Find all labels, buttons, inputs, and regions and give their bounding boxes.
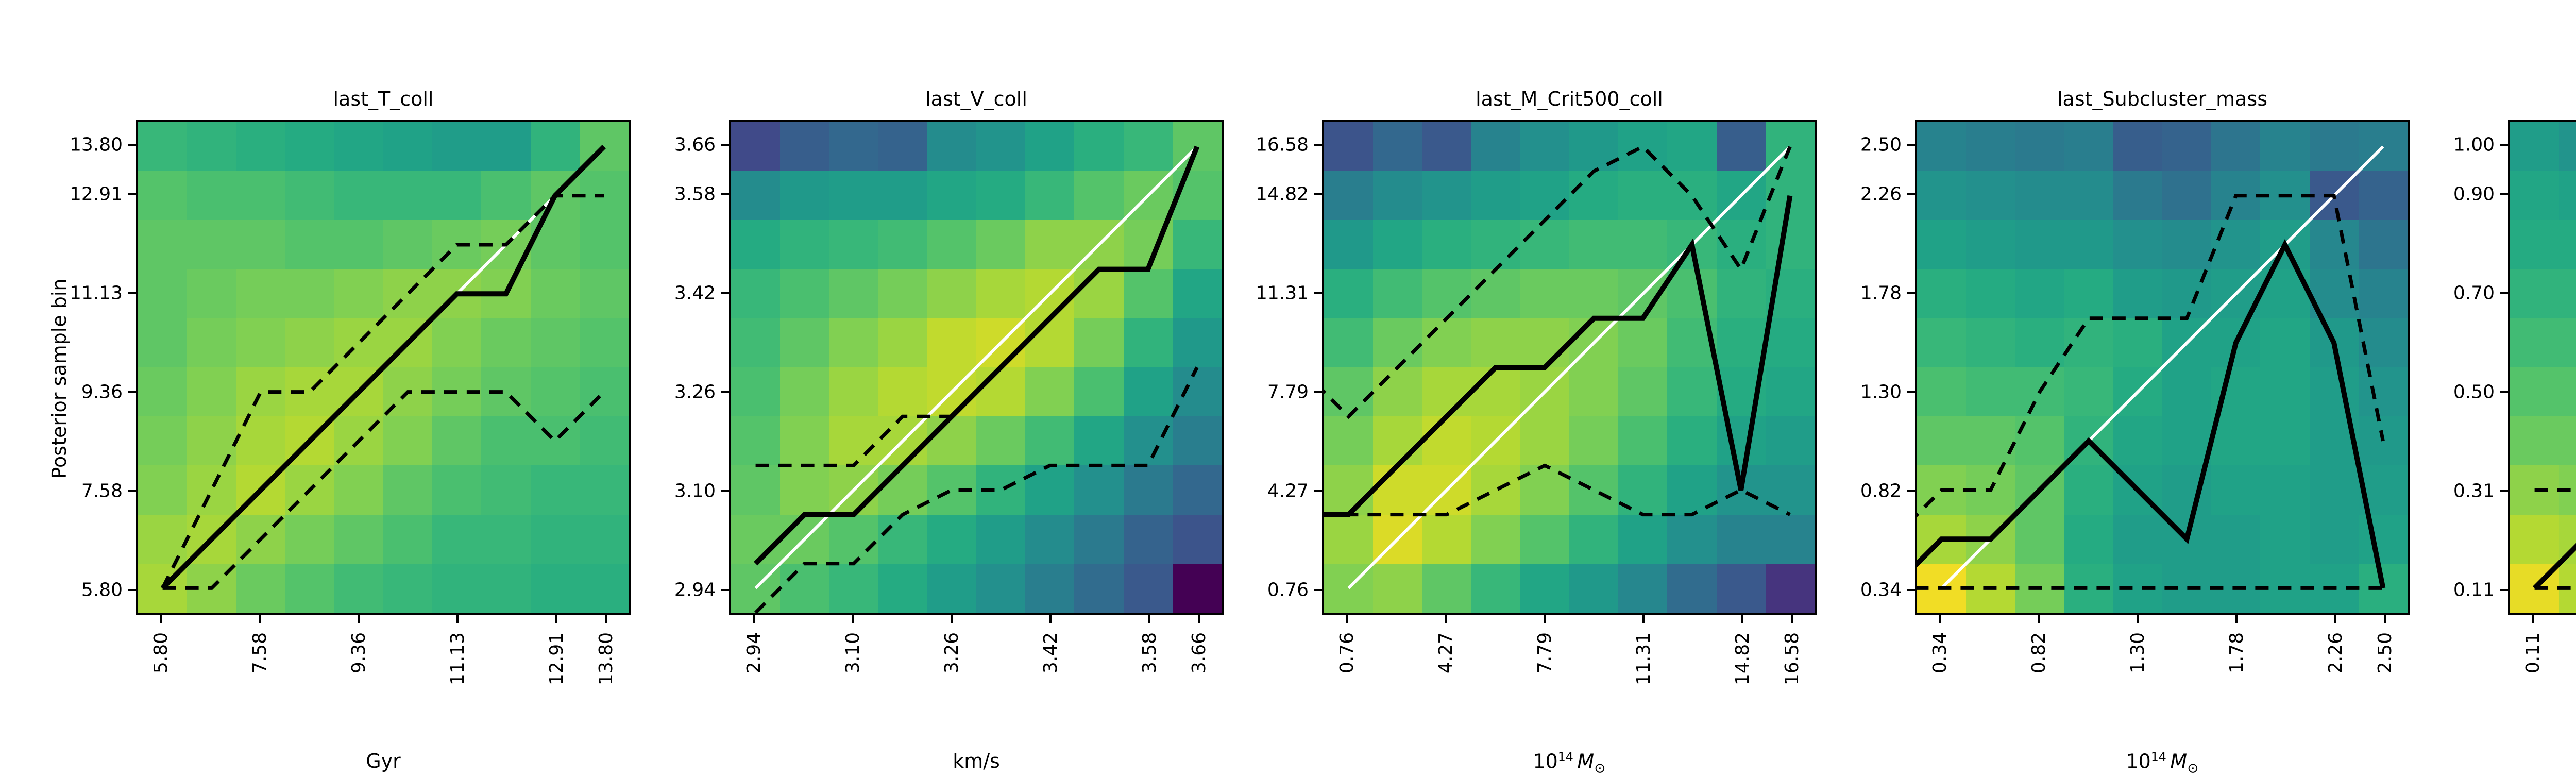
x-tick-label-text: 16.58 [1782, 632, 1803, 685]
x-tick-label-text: 1.78 [2226, 632, 2247, 673]
y-tick-mark [1907, 391, 1915, 393]
y-tick-mark [1907, 490, 1915, 492]
y-tick-label: 1.30 [1860, 382, 1902, 403]
y-tick-mark [1907, 144, 1915, 146]
y-tick-label: 0.82 [1860, 481, 1902, 502]
panel-title-last_M_Crit500_coll: last_M_Crit500_coll [1322, 89, 1817, 120]
panel-last_Mass_ratio: last_Mass_ratio0.110.310.500.700.901.000… [2508, 120, 2576, 615]
x-tick-mark [259, 615, 261, 623]
x-tick-label-text: 5.80 [150, 632, 172, 673]
y-axis-label: Posterior sample bin [48, 214, 71, 544]
identity-line [1349, 147, 1790, 588]
y-tick-mark [128, 292, 136, 294]
y-tick-label: 0.11 [2453, 580, 2495, 601]
y-tick-mark [2500, 589, 2508, 591]
x-tick-label-text: 3.10 [842, 632, 863, 673]
y-tick-mark [2500, 490, 2508, 492]
x-tick-mark [160, 615, 162, 623]
x-tick-label-text: 3.42 [1040, 632, 1061, 673]
x-tick-label-text: 1.30 [2127, 632, 2148, 673]
y-tick-label: 1.00 [2453, 134, 2495, 156]
x-tick-label-text: 3.58 [1139, 632, 1160, 673]
x-tick-mark [2532, 615, 2534, 623]
heatmap-last_Mass_ratio[interactable] [2508, 120, 2576, 615]
y-tick-label: 0.34 [1860, 580, 1902, 601]
x-tick-mark [1198, 615, 1200, 623]
y-tick-label: 0.31 [2453, 481, 2495, 502]
median-line [2535, 294, 2576, 588]
upper-interval-line [163, 196, 604, 588]
x-tick-label-text: 2.50 [2375, 632, 2396, 673]
y-tick-mark [2500, 193, 2508, 195]
x-tick-mark [2384, 615, 2386, 623]
y-tick-mark [1314, 292, 1322, 294]
lower-interval-line [163, 392, 604, 588]
y-tick-mark [721, 391, 729, 393]
x-tick-label-text: 11.13 [447, 632, 468, 685]
x-tick-mark [456, 615, 459, 623]
y-tick-mark [1314, 490, 1322, 492]
y-tick-mark [1907, 193, 1915, 195]
x-tick-mark [1791, 615, 1793, 623]
y-tick-mark [721, 292, 729, 294]
identity-line [2535, 147, 2576, 588]
x-tick-mark [1346, 615, 1348, 623]
y-tick-mark [1314, 589, 1322, 591]
x-tick-label-text: 0.76 [1336, 632, 1358, 673]
heatmap-last_M_Crit500_coll[interactable] [1322, 120, 1817, 615]
y-tick-label: 7.58 [81, 481, 123, 502]
x-axis-label: 1014 M⊙ [1322, 750, 1817, 776]
panel-title-last_V_coll: last_V_coll [729, 89, 1224, 120]
y-tick-mark [2500, 391, 2508, 393]
upper-interval-line [756, 147, 1197, 466]
heatmap-last_Subcluster_mass[interactable] [1915, 120, 2410, 615]
y-tick-mark [2500, 144, 2508, 146]
y-tick-label: 3.42 [674, 283, 716, 304]
y-tick-mark [1314, 144, 1322, 146]
x-tick-mark [1148, 615, 1150, 623]
median-line [1917, 245, 2383, 588]
y-tick-mark [128, 193, 136, 195]
x-tick-label-text: 11.31 [1633, 632, 1654, 685]
x-tick-label-text: 2.26 [2325, 632, 2346, 673]
y-tick-label: 3.58 [674, 184, 716, 205]
y-tick-mark [128, 391, 136, 393]
x-tick-label-text: 7.58 [249, 632, 270, 673]
panel-last_Subcluster_mass: last_Subcluster_mass0.340.821.301.782.26… [1915, 120, 2410, 615]
y-tick-mark [1907, 589, 1915, 591]
x-tick-label-text: 0.34 [1929, 632, 1951, 673]
y-tick-label: 3.66 [674, 134, 716, 156]
x-tick-label-text: 0.11 [2522, 632, 2544, 673]
x-tick-mark [2235, 615, 2238, 623]
x-tick-label-text: 7.79 [1534, 632, 1555, 673]
panel-last_V_coll: last_V_coll2.943.103.263.423.583.662.943… [729, 120, 1224, 615]
x-tick-mark [358, 615, 360, 623]
y-tick-label: 4.27 [1267, 481, 1309, 502]
upper-interval-line [1917, 196, 2383, 539]
x-tick-mark [951, 615, 953, 623]
x-tick-label-text: 9.36 [348, 632, 369, 673]
y-tick-mark [128, 144, 136, 146]
panel-title-last_Subcluster_mass: last_Subcluster_mass [1915, 89, 2410, 120]
y-tick-label: 11.31 [1256, 283, 1309, 304]
x-tick-mark [1445, 615, 1447, 623]
y-tick-label: 2.50 [1860, 134, 1902, 156]
x-tick-mark [1049, 615, 1052, 623]
y-tick-label: 0.90 [2453, 184, 2495, 205]
x-tick-mark [1741, 615, 1743, 623]
panel-last_T_coll: last_T_coll5.807.589.3611.1312.9113.805.… [136, 120, 631, 615]
heatmap-last_T_coll[interactable] [136, 120, 631, 615]
y-tick-mark [1314, 193, 1322, 195]
y-tick-label: 13.80 [70, 134, 123, 156]
figure-canvas: last_T_coll5.807.589.3611.1312.9113.805.… [0, 0, 2576, 773]
lower-interval-line [1324, 465, 1790, 514]
identity-line [756, 147, 1197, 588]
median-line [756, 147, 1197, 564]
y-tick-mark [128, 490, 136, 492]
panel-last_M_Crit500_coll: last_M_Crit500_coll0.764.277.7911.3114.8… [1322, 120, 1817, 615]
x-tick-label-text: 13.80 [596, 632, 617, 685]
x-tick-mark [1642, 615, 1645, 623]
y-tick-label: 0.70 [2453, 283, 2495, 304]
x-tick-label-text: 3.26 [941, 632, 962, 673]
x-tick-label-text: 0.82 [2028, 632, 2049, 673]
heatmap-last_V_coll[interactable] [729, 120, 1224, 615]
x-tick-mark [605, 615, 607, 623]
y-tick-mark [128, 589, 136, 591]
x-tick-mark [1939, 615, 1941, 623]
y-tick-mark [1907, 292, 1915, 294]
y-tick-label: 2.26 [1860, 184, 1902, 205]
upper-interval-line [2535, 147, 2576, 490]
panel-title-last_Mass_ratio: last_Mass_ratio [2508, 89, 2576, 120]
x-axis-label: Gyr [136, 750, 631, 772]
y-tick-label: 3.26 [674, 382, 716, 403]
x-axis-label: km/s [729, 750, 1224, 772]
lower-interval-line [756, 367, 1197, 613]
y-tick-label: 3.10 [674, 481, 716, 502]
x-tick-mark [555, 615, 557, 623]
y-tick-mark [721, 490, 729, 492]
y-tick-label: 7.79 [1267, 382, 1309, 403]
median-line [1324, 196, 1790, 515]
y-tick-label: 1.78 [1860, 283, 1902, 304]
x-tick-mark [753, 615, 755, 623]
y-tick-label: 11.13 [70, 283, 123, 304]
x-tick-label-text: 12.91 [546, 632, 567, 685]
x-axis-label: 1014 M⊙ [1915, 750, 2410, 776]
x-tick-mark [2137, 615, 2139, 623]
y-tick-mark [1314, 391, 1322, 393]
x-tick-label-text: 14.82 [1732, 632, 1753, 685]
y-tick-label: 0.76 [1267, 580, 1309, 601]
x-tick-mark [852, 615, 854, 623]
y-tick-mark [721, 193, 729, 195]
x-tick-mark [2334, 615, 2336, 623]
x-tick-label-text: 3.66 [1189, 632, 1210, 673]
panel-title-last_T_coll: last_T_coll [136, 89, 631, 120]
x-tick-label-text: 4.27 [1435, 632, 1456, 673]
y-tick-label: 14.82 [1256, 184, 1309, 205]
y-tick-label: 9.36 [81, 382, 123, 403]
y-tick-mark [2500, 292, 2508, 294]
y-tick-label: 2.94 [674, 580, 716, 601]
y-tick-label: 5.80 [81, 580, 123, 601]
y-tick-mark [721, 144, 729, 146]
y-tick-mark [721, 589, 729, 591]
x-tick-mark [2038, 615, 2040, 623]
y-tick-label: 12.91 [70, 184, 123, 205]
x-tick-label-text: 2.94 [743, 632, 765, 673]
y-tick-label: 0.50 [2453, 382, 2495, 403]
y-tick-label: 16.58 [1256, 134, 1309, 156]
x-tick-mark [1544, 615, 1546, 623]
